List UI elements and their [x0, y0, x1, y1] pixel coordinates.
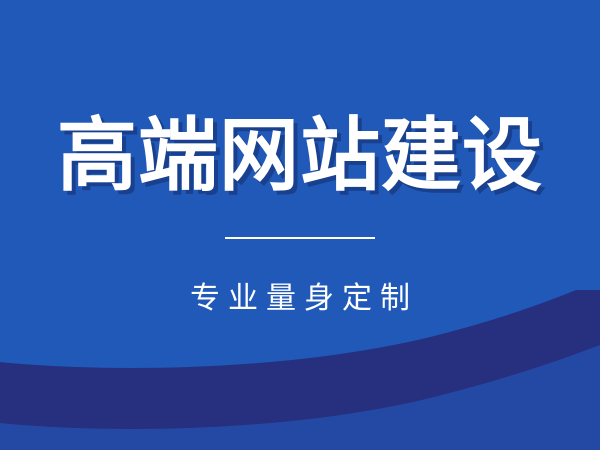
- page-subtitle: 专业量身定制: [182, 284, 418, 314]
- page-title: 高端网站建设: [57, 116, 543, 196]
- promo-banner: 高端网站建设 专业量身定制: [0, 0, 600, 450]
- banner-content: 高端网站建设 专业量身定制: [0, 0, 600, 450]
- title-divider: [225, 237, 375, 239]
